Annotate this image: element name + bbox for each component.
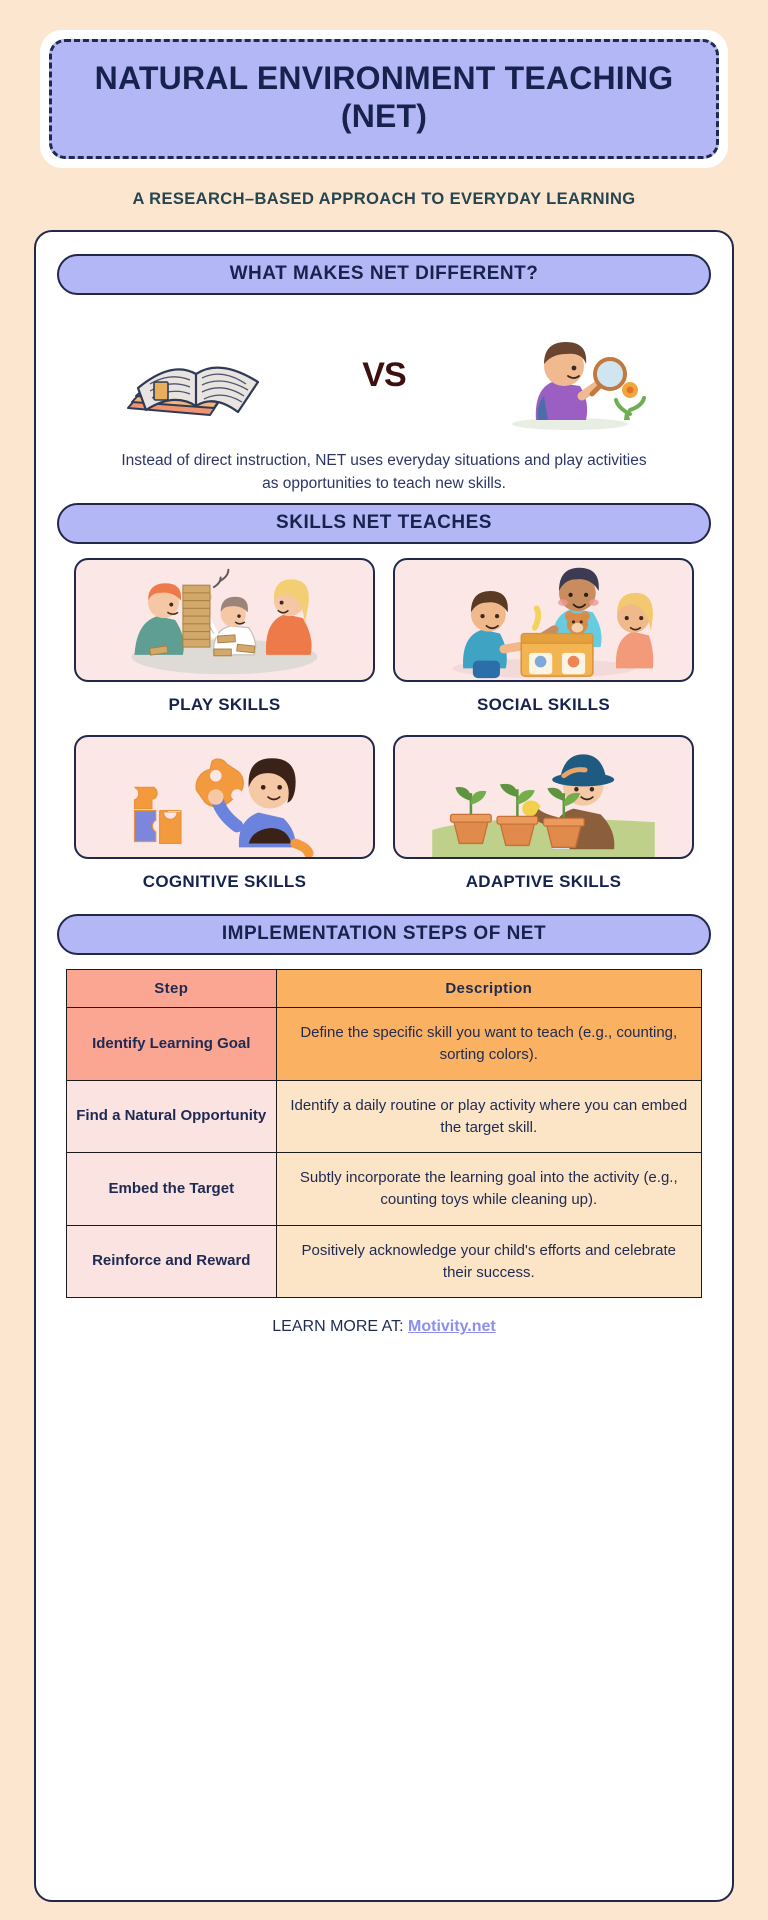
skill-card-adaptive: ADAPTIVE SKILLS (393, 735, 694, 906)
child-gardening-icon (393, 735, 694, 859)
section-heading-implementation: IMPLEMENTATION STEPS OF NET (57, 914, 711, 955)
child-puzzle-icon (74, 735, 375, 859)
table-row: Reinforce and Reward Positively acknowle… (67, 1225, 702, 1298)
footer: LEARN MORE AT: Motivity.net (52, 1298, 716, 1344)
section-heading-difference: WHAT MAKES NET DIFFERENT? (57, 254, 711, 295)
skill-label: COGNITIVE SKILLS (74, 872, 375, 892)
table-row: Embed the Target Subtly incorporate the … (67, 1153, 702, 1226)
skill-card-social: SOCIAL SKILLS (393, 558, 694, 729)
infographic-page: NATURAL ENVIRONMENT TEACHING (NET) A RES… (0, 0, 768, 1920)
table-cell-step: Identify Learning Goal (67, 1008, 277, 1081)
footer-prefix: LEARN MORE AT: (272, 1318, 408, 1335)
table-cell-step: Find a Natural Opportunity (67, 1080, 277, 1153)
table-row: Identify Learning Goal Define the specif… (67, 1008, 702, 1081)
header-block: NATURAL ENVIRONMENT TEACHING (NET) A RES… (18, 18, 750, 210)
table-cell-description: Identify a daily routine or play activit… (276, 1080, 701, 1153)
table-row: Find a Natural Opportunity Identify a da… (67, 1080, 702, 1153)
title-outer-frame: NATURAL ENVIRONMENT TEACHING (NET) (40, 30, 728, 168)
table-cell-step: Reinforce and Reward (67, 1225, 277, 1298)
table-cell-description: Positively acknowledge your child's effo… (276, 1225, 701, 1298)
vs-label: VS (362, 356, 405, 395)
difference-description: Instead of direct instruction, NET uses … (52, 445, 716, 496)
page-title: NATURAL ENVIRONMENT TEACHING (NET) (62, 60, 706, 136)
table-cell-step: Embed the Target (67, 1153, 277, 1226)
child-with-magnifying-glass-icon (478, 316, 658, 436)
children-playing-blocks-icon (74, 558, 375, 682)
table-header-description: Description (276, 970, 701, 1008)
table-header-step: Step (67, 970, 277, 1008)
skill-label: PLAY SKILLS (74, 695, 375, 715)
footer-link[interactable]: Motivity.net (408, 1318, 496, 1335)
page-subtitle: A RESEARCH–BASED APPROACH TO EVERYDAY LE… (40, 188, 728, 210)
skill-label: SOCIAL SKILLS (393, 695, 694, 715)
table-cell-description: Subtly incorporate the learning goal int… (276, 1153, 701, 1226)
section-heading-skills: SKILLS NET TEACHES (57, 503, 711, 544)
implementation-table-wrap: Step Description Identify Learning Goal … (52, 955, 716, 1298)
children-sharing-toys-icon (393, 558, 694, 682)
comparison-row: VS (52, 295, 716, 445)
skills-grid: PLAY SKILLS (52, 544, 716, 906)
skill-card-play: PLAY SKILLS (74, 558, 375, 729)
stacked-books-icon (110, 316, 290, 436)
skill-label: ADAPTIVE SKILLS (393, 872, 694, 892)
title-box: NATURAL ENVIRONMENT TEACHING (NET) (49, 39, 719, 159)
table-cell-description: Define the specific skill you want to te… (276, 1008, 701, 1081)
main-content-card: WHAT MAKES NET DIFFERENT? (34, 230, 734, 1902)
skill-card-cognitive: COGNITIVE SKILLS (74, 735, 375, 906)
implementation-table: Step Description Identify Learning Goal … (66, 969, 702, 1298)
table-header-row: Step Description (67, 970, 702, 1008)
